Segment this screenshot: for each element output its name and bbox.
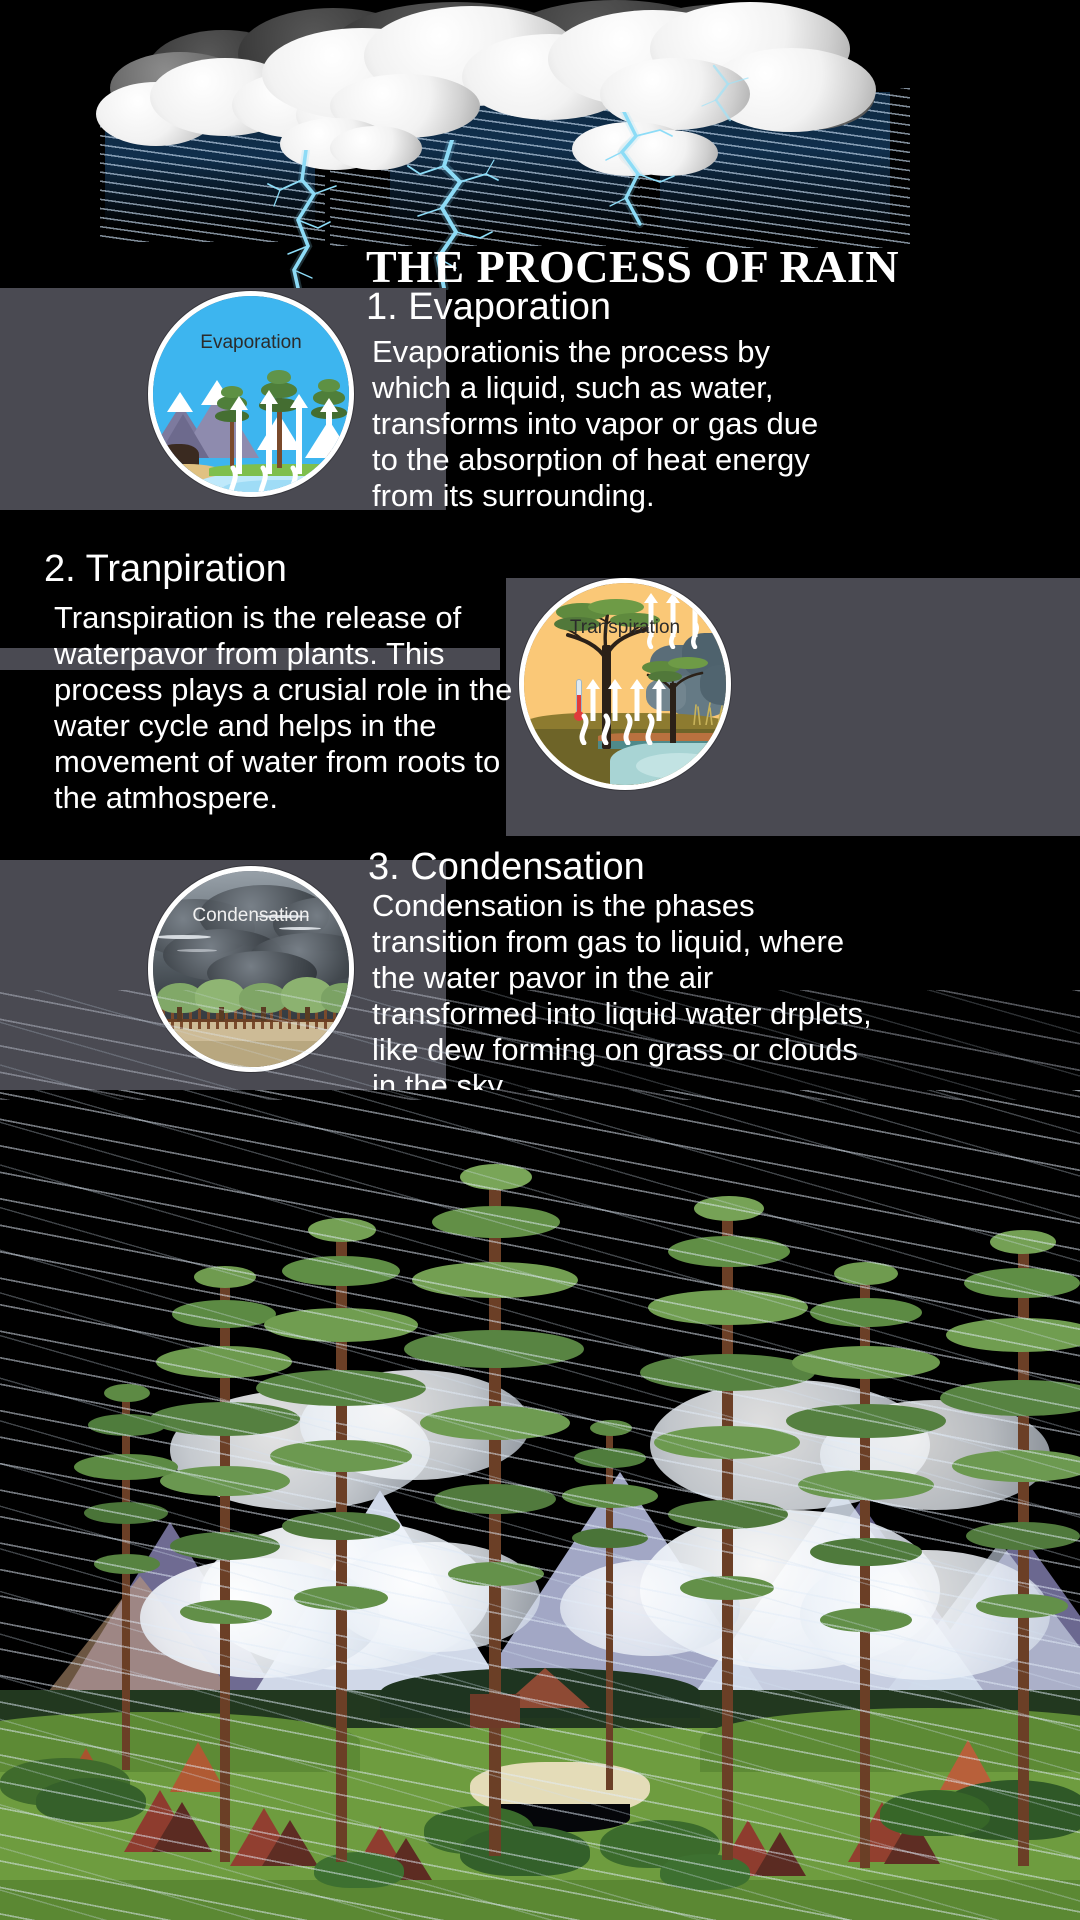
pine-tree [70, 1350, 180, 1770]
rainy-forest-scene [0, 1090, 1080, 1920]
section-3-heading: 3. Condensation [368, 846, 645, 889]
section-1-body: Evaporationis the process by which a liq… [372, 334, 842, 514]
tree-foliage [318, 379, 340, 392]
evaporation-illustration: Evaporation [148, 291, 354, 497]
tree-trunk [261, 1007, 266, 1021]
mountain-snow [167, 392, 193, 412]
transpiration-caption: Transpiration [524, 617, 726, 639]
tree-trunk [177, 1007, 182, 1021]
tree-foliage [267, 370, 291, 384]
cloud-streak [177, 949, 217, 952]
cabin-wall [470, 1694, 520, 1728]
section-2-body: Transpiration is the release of waterpav… [54, 600, 524, 816]
pine-tree [940, 1186, 1080, 1866]
pine-tree [256, 1172, 426, 1862]
lightning-bolt-icon [258, 150, 378, 290]
evaporation-caption: Evaporation [153, 332, 349, 354]
cloud-streak [155, 935, 211, 939]
pine-tree [786, 1218, 946, 1868]
grass-foreground [0, 1880, 1080, 1920]
tree-canopy [668, 657, 708, 669]
pine-tree [560, 1390, 660, 1790]
vapor-waves-icon [574, 707, 670, 745]
section-3-body: Condensation is the phases transition fr… [372, 888, 872, 1104]
cloud-streak [279, 927, 321, 930]
condensation-caption: Condensation [153, 905, 349, 927]
bush [36, 1778, 146, 1822]
pine-tree [404, 1116, 584, 1856]
section-1-heading: 1. Evaporation [366, 286, 611, 329]
transpiration-illustration: Transpiration [519, 578, 731, 790]
water-highlight [636, 753, 722, 779]
tree-trunk [219, 1007, 224, 1021]
condensation-illustration: Condensation [148, 866, 354, 1072]
vapor-wave-icon [221, 446, 354, 497]
section-2-heading: 2. Tranpiration [44, 548, 287, 591]
fence-rail [153, 1019, 354, 1022]
tree-trunk [305, 1007, 310, 1021]
lightning-bolt-icon [700, 60, 790, 150]
